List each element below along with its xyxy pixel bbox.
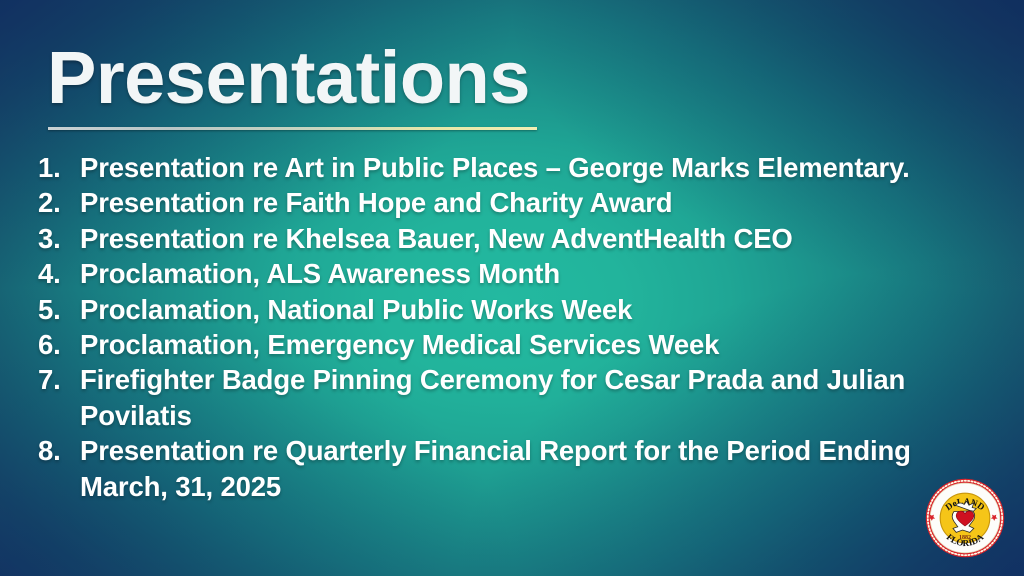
- presentation-slide: Presentations 1. Presentation re Art in …: [0, 0, 1024, 576]
- list-item: 3. Presentation re Khelsea Bauer, New Ad…: [32, 221, 962, 256]
- list-item-number: 7.: [32, 362, 80, 397]
- list-item-number: 2.: [32, 185, 80, 220]
- list-item-text: Proclamation, ALS Awareness Month: [80, 256, 950, 291]
- title-divider: [48, 127, 537, 130]
- list-item-number: 4.: [32, 256, 80, 291]
- list-item-text: Firefighter Badge Pinning Ceremony for C…: [80, 362, 950, 433]
- list-item-text: Proclamation, National Public Works Week: [80, 292, 950, 327]
- list-item-text: Presentation re Khelsea Bauer, New Adven…: [80, 221, 950, 256]
- list-item-text: Presentation re Quarterly Financial Repo…: [80, 433, 950, 504]
- page-title: Presentations: [47, 36, 530, 120]
- list-item: 1. Presentation re Art in Public Places …: [32, 150, 962, 185]
- seal-year: 1882: [959, 535, 971, 541]
- list-item-text: Proclamation, Emergency Medical Services…: [80, 327, 950, 362]
- list-item: 5. Proclamation, National Public Works W…: [32, 292, 962, 327]
- list-item: 2. Presentation re Faith Hope and Charit…: [32, 185, 962, 220]
- list-item-text: Presentation re Faith Hope and Charity A…: [80, 185, 950, 220]
- list-item-text: Presentation re Art in Public Places – G…: [80, 150, 950, 185]
- list-item: 8. Presentation re Quarterly Financial R…: [32, 433, 962, 504]
- list-item-number: 6.: [32, 327, 80, 362]
- agenda-list: 1. Presentation re Art in Public Places …: [32, 150, 962, 504]
- list-item-number: 3.: [32, 221, 80, 256]
- deland-city-seal-icon: DeLAND FLORIDA 1882: [925, 478, 1005, 558]
- list-item: 6. Proclamation, Emergency Medical Servi…: [32, 327, 962, 362]
- list-item: 7. Firefighter Badge Pinning Ceremony fo…: [32, 362, 962, 433]
- list-item-number: 5.: [32, 292, 80, 327]
- list-item: 4. Proclamation, ALS Awareness Month: [32, 256, 962, 291]
- list-item-number: 1.: [32, 150, 80, 185]
- list-item-number: 8.: [32, 433, 80, 468]
